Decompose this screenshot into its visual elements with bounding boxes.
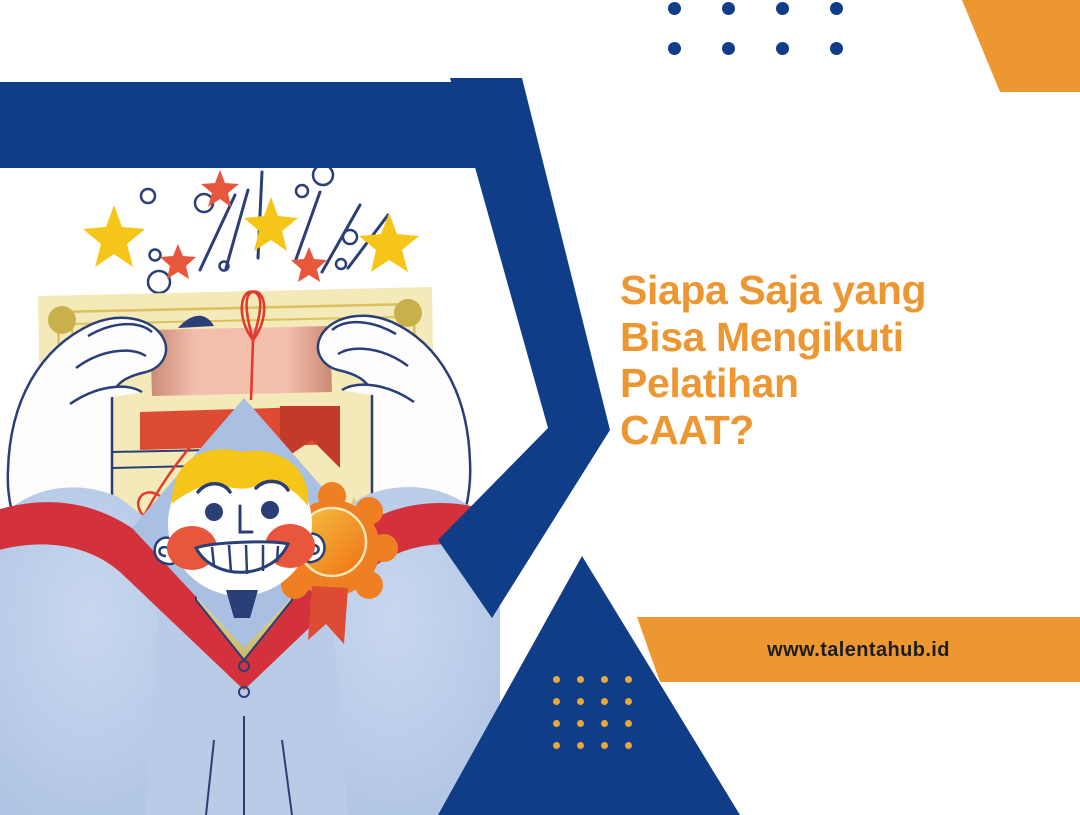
dot-icon xyxy=(553,676,560,683)
banner-canvas: Siapa Saja yang Bisa Mengikuti Pelatihan… xyxy=(0,0,1080,815)
dot-icon xyxy=(553,698,560,705)
dot-icon xyxy=(577,720,584,727)
dot-icon xyxy=(625,676,632,683)
dot-icon xyxy=(668,2,681,15)
dot-icon xyxy=(625,698,632,705)
dot-icon xyxy=(722,42,735,55)
headline: Siapa Saja yang Bisa Mengikuti Pelatihan… xyxy=(620,267,1060,454)
dot-icon xyxy=(577,676,584,683)
website-url[interactable]: www.talentahub.id xyxy=(637,617,1080,683)
top-blue-band xyxy=(0,82,519,168)
top-dot-grid xyxy=(668,2,884,82)
dot-icon xyxy=(722,2,735,15)
dot-icon xyxy=(668,42,681,55)
bottom-dot-grid xyxy=(553,676,649,764)
dot-icon xyxy=(601,742,608,749)
headline-line-1: Siapa Saja yang xyxy=(620,267,1060,314)
dot-icon xyxy=(601,676,608,683)
headline-line-3: Pelatihan xyxy=(620,360,1060,407)
dot-icon xyxy=(776,2,789,15)
dot-icon xyxy=(776,42,789,55)
dot-icon xyxy=(577,698,584,705)
dot-icon xyxy=(601,720,608,727)
dot-icon xyxy=(830,42,843,55)
top-right-wedge-fill xyxy=(962,0,1080,92)
headline-line-4: CAAT? xyxy=(620,407,1060,454)
dot-icon xyxy=(553,720,560,727)
dot-icon xyxy=(625,742,632,749)
headline-line-2: Bisa Mengikuti xyxy=(620,314,1060,361)
dot-icon xyxy=(577,742,584,749)
dot-icon xyxy=(553,742,560,749)
dot-icon xyxy=(830,2,843,15)
dot-icon xyxy=(601,698,608,705)
dot-icon xyxy=(625,720,632,727)
